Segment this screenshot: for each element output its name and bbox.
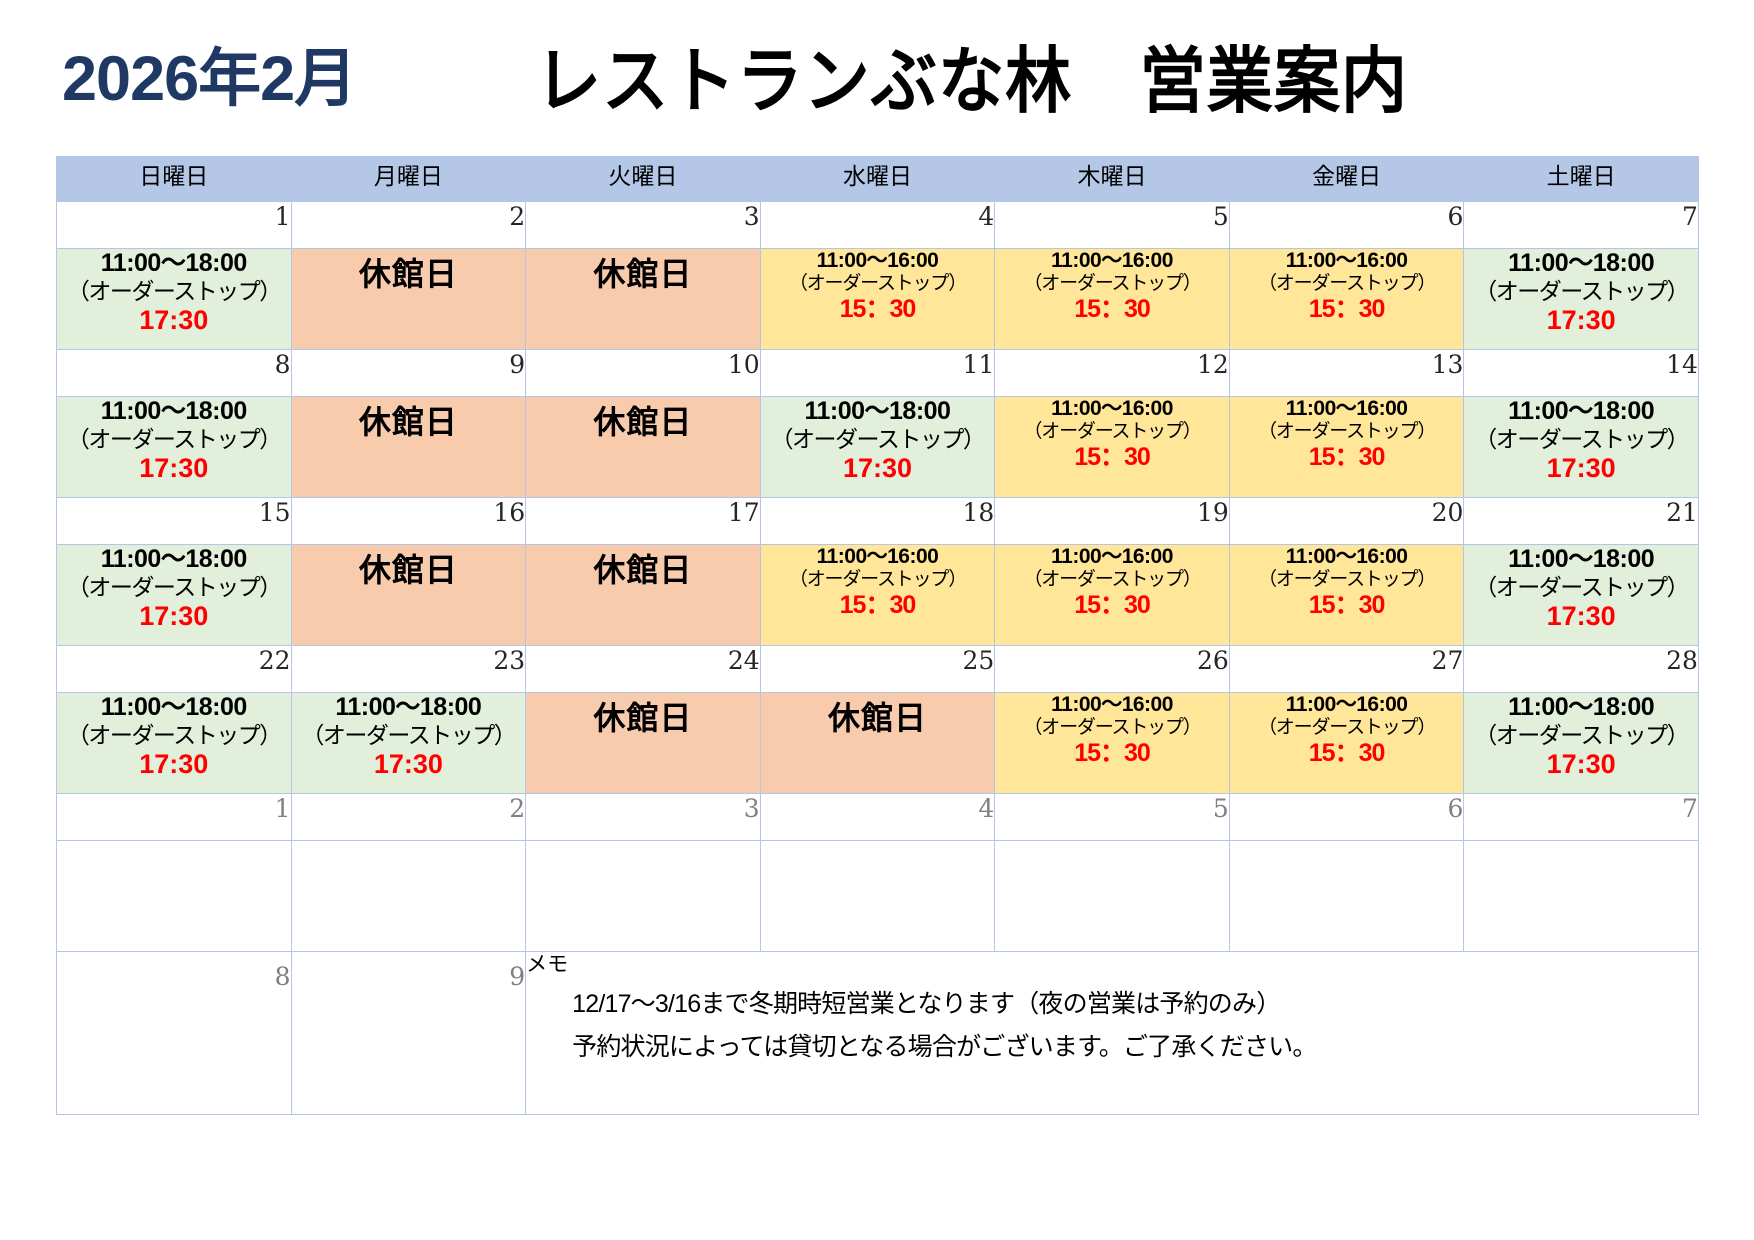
day-cell-open: 11:00〜16:00（オーダーストップ）15：30 — [1229, 249, 1464, 350]
weekday-header-monday: 月曜日 — [291, 157, 526, 202]
opening-hours: 11:00〜18:00 — [1464, 545, 1698, 574]
day-cell-open: 11:00〜16:00（オーダーストップ）15：30 — [1229, 693, 1464, 794]
opening-hours: 11:00〜16:00 — [995, 693, 1229, 717]
opening-hours: 11:00〜16:00 — [995, 397, 1229, 421]
day-cell-empty — [526, 841, 761, 952]
closed-label: 休館日 — [593, 700, 692, 736]
date-number-cell: 2 — [291, 794, 526, 841]
date-number-cell: 9 — [291, 350, 526, 397]
calendar-content-row: 11:00〜18:00（オーダーストップ）17:30休館日休館日11:00〜16… — [57, 545, 1699, 646]
day-cell-closed: 休館日 — [526, 249, 761, 350]
date-number-cell: 8 — [57, 952, 292, 1115]
memo-cell: メモ12/17〜3/16まで冬期時短営業となります（夜の営業は予約のみ）予約状況… — [526, 952, 1699, 1115]
day-cell-open: 11:00〜18:00（オーダーストップ）17:30 — [57, 397, 292, 498]
last-order-time: 17:30 — [57, 601, 291, 632]
last-order-time: 17:30 — [1464, 305, 1698, 336]
date-number-cell: 1 — [57, 794, 292, 841]
weekday-header-tuesday: 火曜日 — [526, 157, 761, 202]
date-number-cell: 27 — [1229, 646, 1464, 693]
opening-hours: 11:00〜18:00 — [1464, 693, 1698, 722]
date-number-cell: 7 — [1464, 794, 1699, 841]
closed-label: 休館日 — [593, 256, 692, 292]
order-stop-label: （オーダーストップ） — [1464, 278, 1698, 305]
date-number-cell: 6 — [1229, 794, 1464, 841]
memo-title: メモ — [526, 952, 1698, 977]
day-cell-empty — [1464, 841, 1699, 952]
closed-label: 休館日 — [359, 256, 458, 292]
business-hours-calendar: 日曜日 月曜日 火曜日 水曜日 木曜日 金曜日 土曜日 123456711:00… — [56, 156, 1699, 1115]
last-order-time: 15：30 — [995, 295, 1229, 324]
day-cell-open: 11:00〜18:00（オーダーストップ）17:30 — [57, 693, 292, 794]
opening-hours: 11:00〜18:00 — [57, 397, 291, 426]
calendar-date-row: 1234567 — [57, 794, 1699, 841]
opening-hours: 11:00〜16:00 — [761, 249, 995, 273]
last-order-time: 15：30 — [1230, 739, 1464, 768]
day-cell-open: 11:00〜16:00（オーダーストップ）15：30 — [1229, 397, 1464, 498]
calendar-memo-row: 89メモ12/17〜3/16まで冬期時短営業となります（夜の営業は予約のみ）予約… — [57, 952, 1699, 1115]
day-cell-open: 11:00〜16:00（オーダーストップ）15：30 — [995, 397, 1230, 498]
page-title: レストランぶな林 営業案内 — [535, 22, 1408, 127]
date-number-cell: 8 — [57, 350, 292, 397]
opening-hours: 11:00〜18:00 — [57, 693, 291, 722]
date-number-cell: 25 — [760, 646, 995, 693]
day-cell-open: 11:00〜18:00（オーダーストップ）17:30 — [760, 397, 995, 498]
order-stop-label: （オーダーストップ） — [995, 569, 1229, 591]
order-stop-label: （オーダーストップ） — [761, 273, 995, 295]
date-number-cell: 17 — [526, 498, 761, 545]
date-number-cell: 15 — [57, 498, 292, 545]
day-cell-closed: 休館日 — [760, 693, 995, 794]
order-stop-label: （オーダーストップ） — [1230, 717, 1464, 739]
opening-hours: 11:00〜18:00 — [1464, 397, 1698, 426]
date-number-cell: 1 — [57, 202, 292, 249]
memo-line: 12/17〜3/16まで冬期時短営業となります（夜の営業は予約のみ） — [572, 989, 1698, 1020]
order-stop-label: （オーダーストップ） — [57, 278, 291, 305]
order-stop-label: （オーダーストップ） — [761, 569, 995, 591]
day-cell-open: 11:00〜16:00（オーダーストップ）15：30 — [995, 249, 1230, 350]
month-title: 2026年2月 — [62, 28, 356, 119]
weekday-header-row: 日曜日 月曜日 火曜日 水曜日 木曜日 金曜日 土曜日 — [57, 157, 1699, 202]
date-number-cell: 18 — [760, 498, 995, 545]
day-cell-closed: 休館日 — [291, 545, 526, 646]
opening-hours: 11:00〜18:00 — [1464, 249, 1698, 278]
closed-label: 休館日 — [359, 552, 458, 588]
day-cell-empty — [1229, 841, 1464, 952]
order-stop-label: （オーダーストップ） — [1230, 421, 1464, 443]
date-number-cell: 22 — [57, 646, 292, 693]
date-number-cell: 26 — [995, 646, 1230, 693]
day-cell-open: 11:00〜18:00（オーダーストップ）17:30 — [291, 693, 526, 794]
date-number-cell: 16 — [291, 498, 526, 545]
opening-hours: 11:00〜16:00 — [995, 545, 1229, 569]
last-order-time: 15：30 — [1230, 591, 1464, 620]
last-order-time: 17:30 — [1464, 749, 1698, 780]
last-order-time: 17:30 — [1464, 601, 1698, 632]
closed-label: 休館日 — [593, 552, 692, 588]
order-stop-label: （オーダーストップ） — [1464, 426, 1698, 453]
day-cell-empty — [57, 841, 292, 952]
last-order-time: 15：30 — [1230, 295, 1464, 324]
order-stop-label: （オーダーストップ） — [292, 722, 526, 749]
calendar-content-row: 11:00〜18:00（オーダーストップ）17:3011:00〜18:00（オー… — [57, 693, 1699, 794]
calendar-date-row: 15161718192021 — [57, 498, 1699, 545]
date-number-cell: 4 — [760, 202, 995, 249]
day-cell-open: 11:00〜16:00（オーダーストップ）15：30 — [995, 545, 1230, 646]
day-cell-empty — [760, 841, 995, 952]
memo-line: 予約状況によっては貸切となる場合がございます。ご了承ください。 — [572, 1032, 1698, 1063]
date-number-cell: 3 — [526, 794, 761, 841]
day-cell-open: 11:00〜18:00（オーダーストップ）17:30 — [1464, 693, 1699, 794]
order-stop-label: （オーダーストップ） — [1464, 574, 1698, 601]
day-cell-closed: 休館日 — [291, 249, 526, 350]
last-order-time: 15：30 — [995, 443, 1229, 472]
day-cell-open: 11:00〜18:00（オーダーストップ）17:30 — [57, 249, 292, 350]
last-order-time: 17:30 — [57, 749, 291, 780]
weekday-header-friday: 金曜日 — [1229, 157, 1464, 202]
date-number-cell: 24 — [526, 646, 761, 693]
day-cell-open: 11:00〜18:00（オーダーストップ）17:30 — [1464, 249, 1699, 350]
closed-label: 休館日 — [359, 404, 458, 440]
opening-hours: 11:00〜16:00 — [1230, 545, 1464, 569]
order-stop-label: （オーダーストップ） — [761, 426, 995, 453]
day-cell-empty — [291, 841, 526, 952]
day-cell-open: 11:00〜18:00（オーダーストップ）17:30 — [57, 545, 292, 646]
opening-hours: 11:00〜18:00 — [292, 693, 526, 722]
date-number-cell: 2 — [291, 202, 526, 249]
order-stop-label: （オーダーストップ） — [1230, 273, 1464, 295]
last-order-time: 15：30 — [761, 295, 995, 324]
date-number-cell: 14 — [1464, 350, 1699, 397]
date-number-cell: 21 — [1464, 498, 1699, 545]
date-number-cell: 9 — [291, 952, 526, 1115]
opening-hours: 11:00〜16:00 — [1230, 397, 1464, 421]
date-number-cell: 10 — [526, 350, 761, 397]
day-cell-empty — [995, 841, 1230, 952]
day-cell-open: 11:00〜18:00（オーダーストップ）17:30 — [1464, 397, 1699, 498]
calendar-body: 123456711:00〜18:00（オーダーストップ）17:30休館日休館日1… — [57, 202, 1699, 1115]
date-number-cell: 4 — [760, 794, 995, 841]
calendar-content-row — [57, 841, 1699, 952]
date-number-cell: 5 — [995, 202, 1230, 249]
day-cell-closed: 休館日 — [526, 397, 761, 498]
weekday-header-saturday: 土曜日 — [1464, 157, 1699, 202]
date-number-cell: 28 — [1464, 646, 1699, 693]
last-order-time: 15：30 — [995, 739, 1229, 768]
last-order-time: 17:30 — [1464, 453, 1698, 484]
opening-hours: 11:00〜16:00 — [1230, 693, 1464, 717]
day-cell-closed: 休館日 — [526, 693, 761, 794]
closed-label: 休館日 — [593, 404, 692, 440]
last-order-time: 17:30 — [57, 305, 291, 336]
day-cell-open: 11:00〜16:00（オーダーストップ）15：30 — [760, 545, 995, 646]
order-stop-label: （オーダーストップ） — [995, 717, 1229, 739]
weekday-header-thursday: 木曜日 — [995, 157, 1230, 202]
date-number-cell: 19 — [995, 498, 1230, 545]
day-cell-closed: 休館日 — [526, 545, 761, 646]
order-stop-label: （オーダーストップ） — [995, 273, 1229, 295]
date-number-cell: 13 — [1229, 350, 1464, 397]
opening-hours: 11:00〜16:00 — [1230, 249, 1464, 273]
date-number-cell: 20 — [1229, 498, 1464, 545]
order-stop-label: （オーダーストップ） — [57, 722, 291, 749]
date-number-cell: 3 — [526, 202, 761, 249]
opening-hours: 11:00〜16:00 — [995, 249, 1229, 273]
calendar-content-row: 11:00〜18:00（オーダーストップ）17:30休館日休館日11:00〜16… — [57, 249, 1699, 350]
day-cell-open: 11:00〜16:00（オーダーストップ）15：30 — [1229, 545, 1464, 646]
order-stop-label: （オーダーストップ） — [57, 574, 291, 601]
date-number-cell: 7 — [1464, 202, 1699, 249]
day-cell-open: 11:00〜18:00（オーダーストップ）17:30 — [1464, 545, 1699, 646]
date-number-cell: 23 — [291, 646, 526, 693]
last-order-time: 15：30 — [995, 591, 1229, 620]
weekday-header-wednesday: 水曜日 — [760, 157, 995, 202]
last-order-time: 17:30 — [761, 453, 995, 484]
day-cell-closed: 休館日 — [291, 397, 526, 498]
opening-hours: 11:00〜18:00 — [761, 397, 995, 426]
order-stop-label: （オーダーストップ） — [57, 426, 291, 453]
last-order-time: 15：30 — [761, 591, 995, 620]
weekday-header-sunday: 日曜日 — [57, 157, 292, 202]
date-number-cell: 11 — [760, 350, 995, 397]
day-cell-open: 11:00〜16:00（オーダーストップ）15：30 — [760, 249, 995, 350]
order-stop-label: （オーダーストップ） — [1230, 569, 1464, 591]
opening-hours: 11:00〜18:00 — [57, 249, 291, 278]
date-number-cell: 5 — [995, 794, 1230, 841]
opening-hours: 11:00〜16:00 — [761, 545, 995, 569]
date-number-cell: 6 — [1229, 202, 1464, 249]
day-cell-open: 11:00〜16:00（オーダーストップ）15：30 — [995, 693, 1230, 794]
page-header: 2026年2月 レストランぶな林 営業案内 — [0, 0, 1754, 150]
date-number-cell: 12 — [995, 350, 1230, 397]
closed-label: 休館日 — [828, 700, 927, 736]
last-order-time: 17:30 — [57, 453, 291, 484]
calendar-date-row: 891011121314 — [57, 350, 1699, 397]
opening-hours: 11:00〜18:00 — [57, 545, 291, 574]
last-order-time: 17:30 — [292, 749, 526, 780]
order-stop-label: （オーダーストップ） — [1464, 722, 1698, 749]
calendar-content-row: 11:00〜18:00（オーダーストップ）17:30休館日休館日11:00〜18… — [57, 397, 1699, 498]
calendar-date-row: 22232425262728 — [57, 646, 1699, 693]
order-stop-label: （オーダーストップ） — [995, 421, 1229, 443]
last-order-time: 15：30 — [1230, 443, 1464, 472]
calendar-date-row: 1234567 — [57, 202, 1699, 249]
